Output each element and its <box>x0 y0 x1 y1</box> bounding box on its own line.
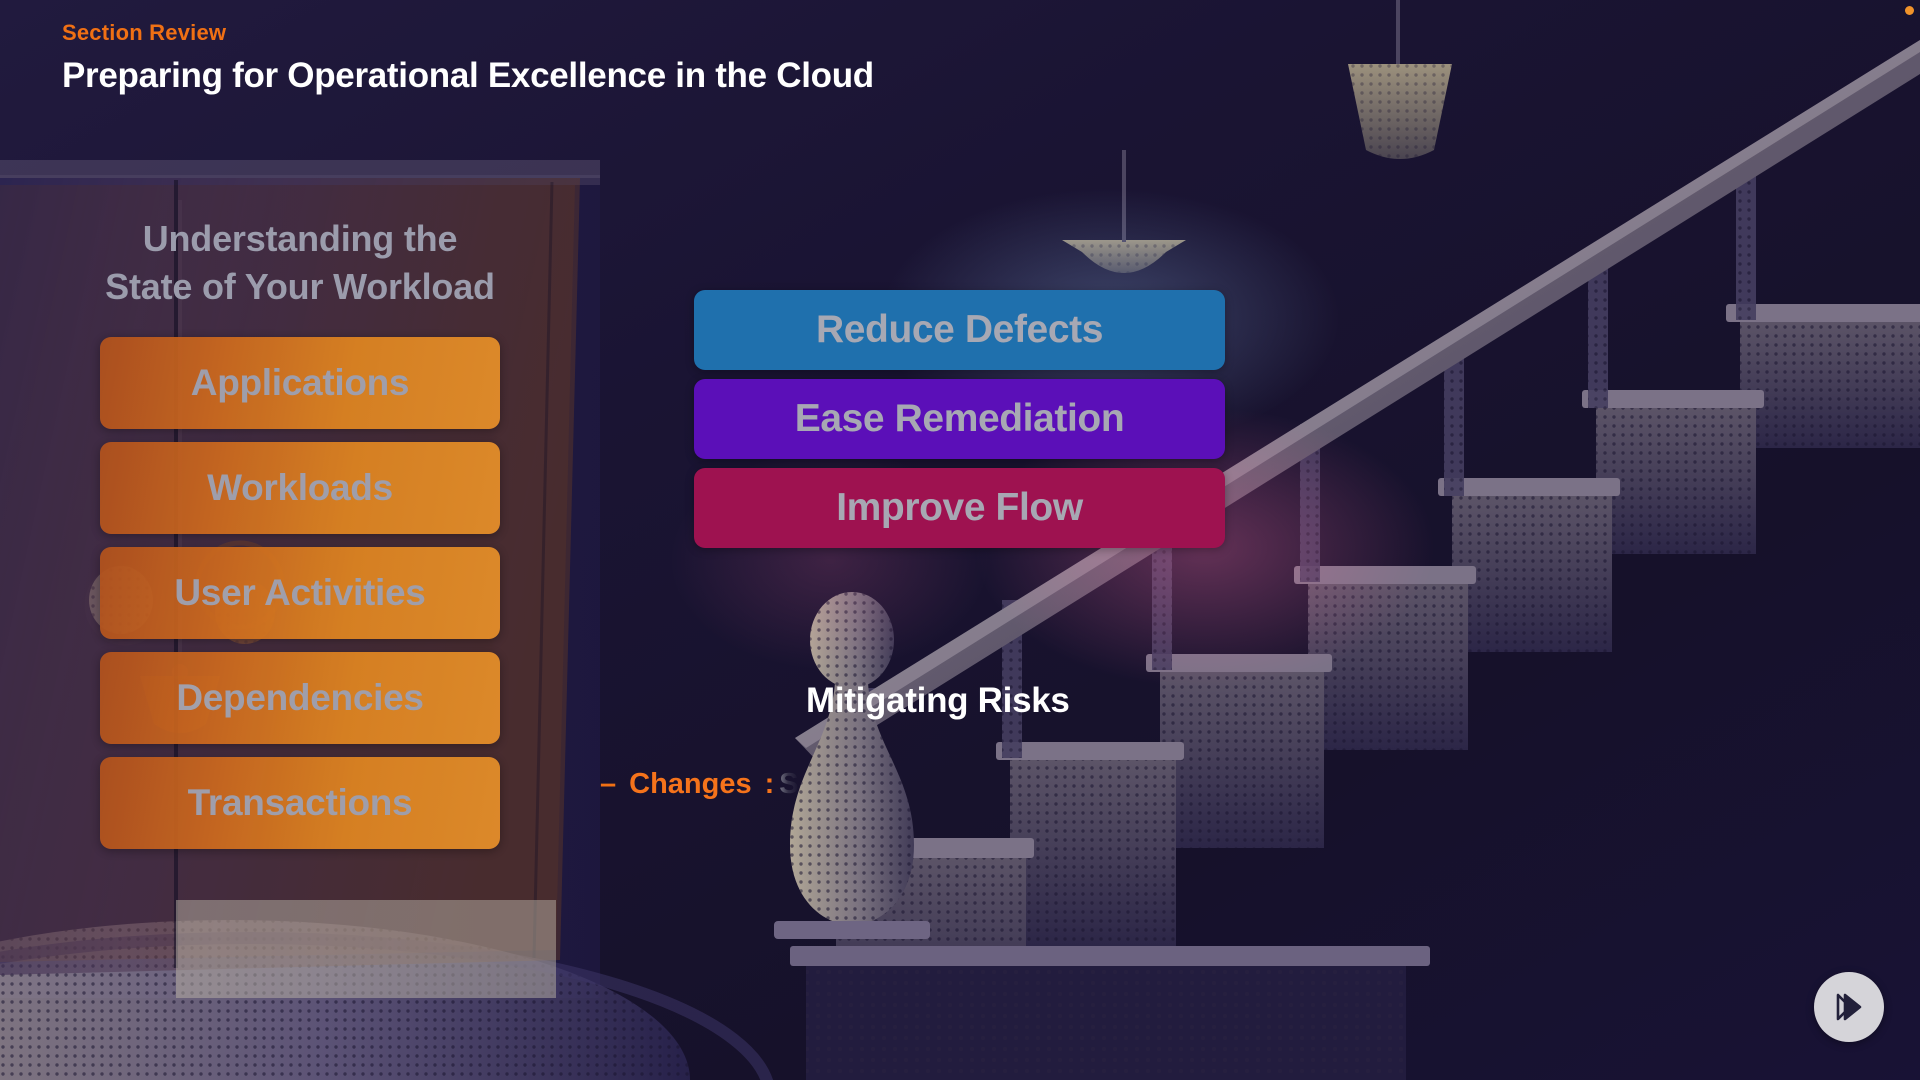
bullet-dash: – <box>600 768 616 801</box>
left-column: Understanding the State of Your Workload… <box>60 215 540 862</box>
slide-header: Section Review Preparing for Operational… <box>62 20 874 96</box>
workload-card-label: Dependencies <box>176 677 423 719</box>
workload-card-label: Transactions <box>188 782 413 824</box>
workload-card-applications[interactable]: Applications <box>100 337 500 429</box>
left-heading-line-2: State of Your Workload <box>60 263 540 311</box>
play-forward-button[interactable] <box>1814 972 1884 1042</box>
benefit-bar-label: Reduce Defects <box>816 308 1103 352</box>
benefit-bar-label: Ease Remediation <box>795 397 1125 441</box>
section-eyebrow: Section Review <box>62 20 874 46</box>
left-heading-line-1: Understanding the <box>60 215 540 263</box>
benefit-bar-reduce-defects[interactable]: Reduce Defects <box>694 290 1225 370</box>
status-dot <box>1905 6 1914 15</box>
bullet-label: Changes <box>629 768 751 801</box>
page-title: Preparing for Operational Excellence in … <box>62 56 874 96</box>
play-forward-icon <box>1829 987 1869 1027</box>
workload-card-dependencies[interactable]: Dependencies <box>100 652 500 744</box>
workload-card-transactions[interactable]: Transactions <box>100 757 500 849</box>
workload-card-workloads[interactable]: Workloads <box>100 442 500 534</box>
workload-card-label: User Activities <box>174 572 425 614</box>
workload-card-label: Applications <box>191 362 409 404</box>
workload-card-user-activities[interactable]: User Activities <box>100 547 500 639</box>
mitigating-risks-bullet: – Changes : S <box>600 768 799 801</box>
benefits-column: Reduce Defects Ease Remediation Improve … <box>694 290 1229 557</box>
benefit-bar-ease-remediation[interactable]: Ease Remediation <box>694 379 1225 459</box>
left-column-heading: Understanding the State of Your Workload <box>60 215 540 311</box>
benefit-bar-label: Improve Flow <box>836 486 1083 530</box>
benefit-bar-improve-flow[interactable]: Improve Flow <box>694 468 1225 548</box>
bullet-colon: : <box>765 768 775 801</box>
bullet-text: S <box>779 768 798 801</box>
workload-card-label: Workloads <box>207 467 393 509</box>
mitigating-risks-heading: Mitigating Risks <box>806 681 1070 721</box>
